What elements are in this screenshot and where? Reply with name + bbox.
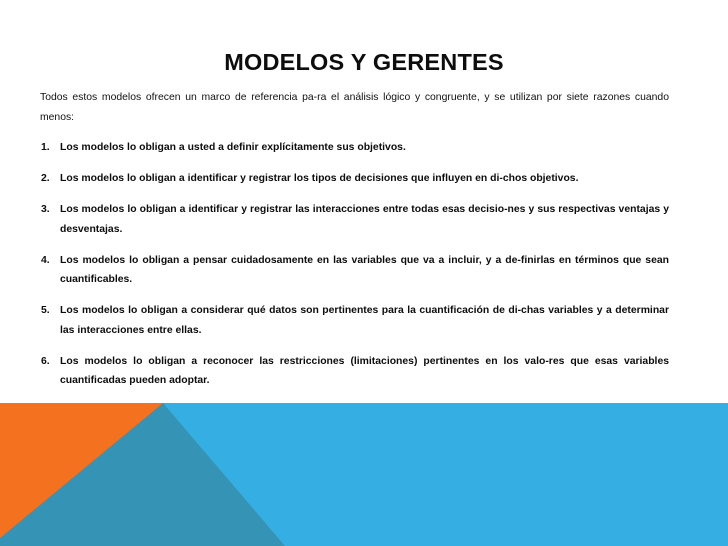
page-title: MODELOS Y GERENTES: [0, 49, 728, 76]
list-item-number: 6.: [41, 352, 50, 372]
slide: MODELOS Y GERENTES Todos estos modelos o…: [0, 0, 728, 546]
list-item-number: 5.: [41, 301, 50, 321]
list-item-text: Los modelos lo obligan a identificar y r…: [60, 200, 669, 239]
list-item-text: Los modelos lo obligan a usted a definir…: [60, 138, 669, 158]
list-item: 3. Los modelos lo obligan a identificar …: [40, 200, 669, 239]
numbered-list: 1. Los modelos lo obligan a usted a defi…: [40, 138, 669, 422]
list-item-number: 4.: [41, 251, 50, 271]
list-item-text: Los modelos lo obligan a identificar y r…: [60, 169, 669, 189]
list-item-number: 2.: [41, 169, 50, 189]
list-item-text: Los modelos lo obligan a pensar cuidados…: [60, 251, 669, 290]
list-item-text: Los modelos lo obligan a considerar qué …: [60, 301, 669, 340]
list-item: 6. Los modelos lo obligan a reconocer la…: [40, 352, 669, 391]
list-item: 2. Los modelos lo obligan a identificar …: [40, 169, 669, 189]
list-item: 5. Los modelos lo obligan a considerar q…: [40, 301, 669, 340]
list-item-number: 1.: [41, 138, 50, 158]
list-item-number: 3.: [41, 200, 50, 220]
list-item-text: Los modelos lo obligan a reconocer las r…: [60, 352, 669, 391]
footer-decoration: [0, 403, 728, 546]
footer-geometric-shapes: [0, 403, 728, 546]
list-item: 1. Los modelos lo obligan a usted a defi…: [40, 138, 669, 158]
list-item: 4. Los modelos lo obligan a pensar cuida…: [40, 251, 669, 290]
intro-paragraph: Todos estos modelos ofrecen un marco de …: [40, 88, 669, 127]
slide-body: Todos estos modelos ofrecen un marco de …: [40, 88, 669, 422]
